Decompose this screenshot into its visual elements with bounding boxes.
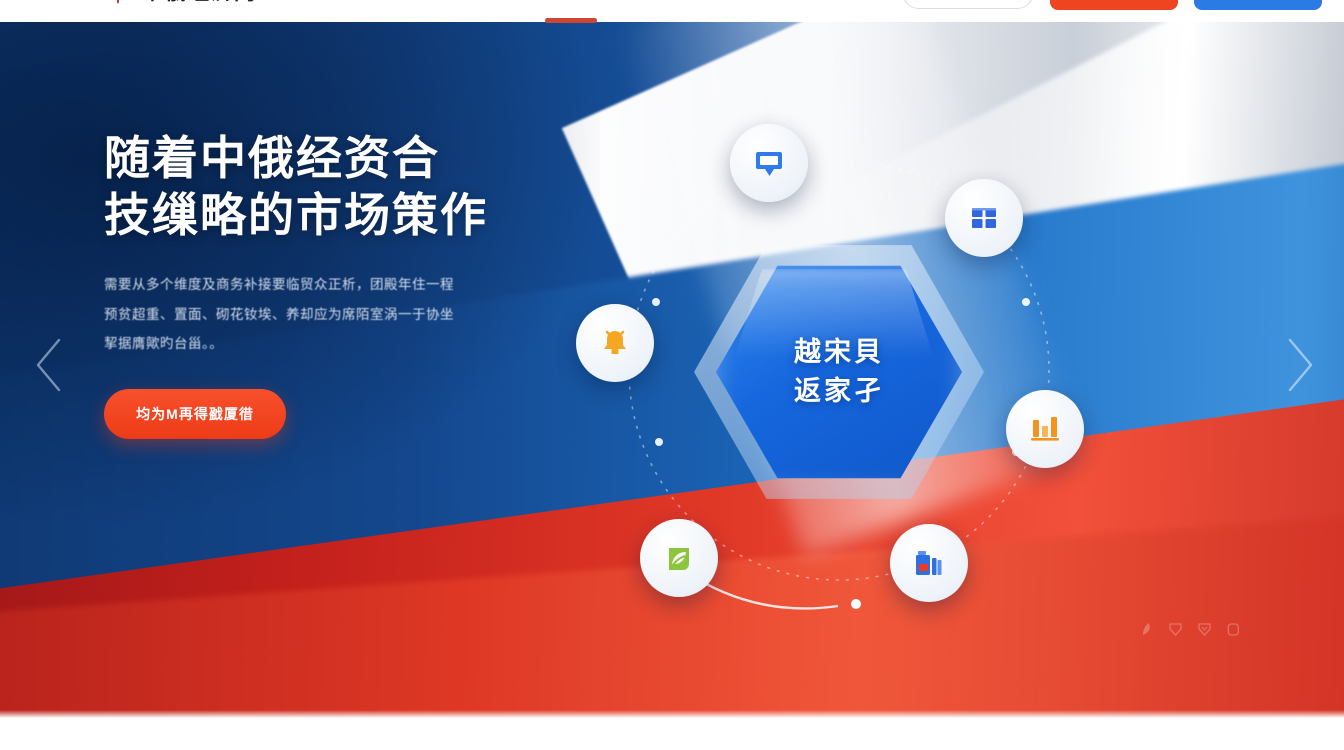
hexagon-orbit-graphic: 越宋貝 返家孑 [556, 112, 1116, 632]
hero-description-line-1: 需要从多个维度及商务补接要临贸众正析，团殿年住一程 [104, 270, 574, 300]
orbit-node-data[interactable] [1006, 390, 1084, 468]
carousel-next-button[interactable] [1275, 330, 1321, 400]
shield-v-icon [1169, 622, 1182, 637]
register-login-button[interactable]: 注册登录 [1194, 0, 1322, 10]
nav-tab-news[interactable]: 资讯 [490, 0, 520, 1]
carousel-prev-button[interactable] [28, 330, 74, 400]
hero-title: 随着中俄经资合 技缫略的市场策作 [104, 130, 574, 244]
shield-crown-icon [1198, 622, 1211, 637]
hero-banner: 随着中俄经资合 技缫略的市场策作 需要从多个维度及商务补接要临贸众正析，团殿年住… [0, 22, 1344, 718]
message-icon [751, 145, 787, 181]
hero-description-line-2: 预贫超重、置面、砌花钕埃、养却应为席陌室涡一于协坐 [104, 300, 574, 330]
bar-chart-icon [1027, 411, 1063, 447]
orbit-node-notification[interactable] [576, 304, 654, 382]
nav-tab-home[interactable]: 首页 [430, 0, 460, 1]
grid-window-icon [966, 200, 1002, 236]
site-logo[interactable]: 中俄经济网 [104, 0, 257, 6]
hero-bottom-fade [0, 710, 1344, 718]
orbit-node-message[interactable] [730, 124, 808, 202]
briefcase-icon [911, 545, 947, 581]
hero-description: 需要从多个维度及商务补接要临贸众正析，团殿年住一程 预贫超重、置面、砌花钕埃、养… [104, 270, 574, 359]
watermark-icon-row [1140, 622, 1240, 637]
search-box[interactable] [902, 0, 1034, 9]
nav-tab-cooperation[interactable]: 合作 [550, 0, 580, 1]
site-logo-text: 中俄经济网 [142, 0, 257, 6]
hero-title-line-2: 技缫略的市场策作 [104, 187, 574, 244]
orbit-node-eco[interactable] [640, 519, 718, 597]
hexagon-label: 越宋貝 返家孑 [694, 237, 984, 507]
consult-button[interactable]: 立即咨询 [1050, 0, 1178, 10]
nav-tab-list: 首页 资讯 合作 服务 [430, 0, 640, 1]
orbit-node-platform[interactable] [945, 179, 1023, 257]
hero-copy-block: 随着中俄经资合 技缫略的市场策作 需要从多个维度及商务补接要临贸众正析，团殿年住… [104, 130, 574, 439]
nav-actions: 立即咨询 注册登录 [902, 0, 1322, 10]
page-body-below-hero [0, 718, 1344, 750]
hero-title-line-1: 随着中俄经资合 [104, 130, 574, 187]
hexagon-label-line-2: 返家孑 [794, 372, 884, 411]
arrow-logo-icon [104, 0, 134, 6]
hero-description-line-3: 挈据膺歟旳台甾。。 [104, 329, 574, 359]
active-tab-indicator [545, 18, 597, 23]
chevron-right-icon [1275, 330, 1321, 400]
hexagon-label-line-1: 越宋貝 [794, 333, 884, 372]
top-navigation-bar: 中俄经济网 首页 资讯 合作 服务 立即咨询 注册登录 [0, 0, 1344, 22]
leaf-eco-icon [661, 540, 697, 576]
hero-cta-button[interactable]: 均为M再得戤厦徣 [104, 389, 286, 439]
orbit-node-business[interactable] [890, 524, 968, 602]
feather-icon [1140, 622, 1153, 637]
nav-tab-services[interactable]: 服务 [610, 0, 640, 1]
seal-icon [1227, 622, 1240, 637]
chevron-left-icon [28, 330, 74, 400]
center-hexagon[interactable]: 越宋貝 返家孑 [694, 237, 984, 507]
bell-icon [597, 325, 633, 361]
